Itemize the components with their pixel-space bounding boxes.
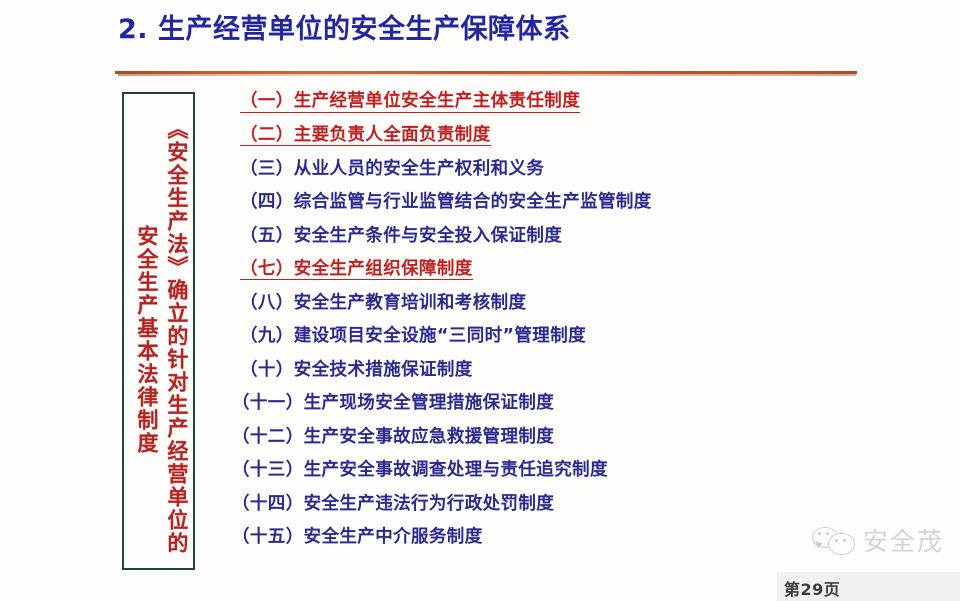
list-item-label: （二）主要负责人全面负责制度: [240, 127, 491, 147]
list-item-label: （一）生产经营单位安全生产主体责任制度: [240, 93, 580, 113]
list-item-label: （八）安全生产教育培训和考核制度: [240, 295, 526, 314]
title-divider-shadow: [118, 74, 856, 76]
list-item: （七）安全生产组织保障制度: [232, 254, 852, 288]
list-item-label: （十）安全技术措施保证制度: [240, 362, 473, 381]
page-number-label: 第29页: [784, 576, 840, 600]
list-item: （十）安全技术措施保证制度: [232, 354, 852, 388]
watermark-brand-label: 安全茂: [863, 522, 944, 558]
list-item: （四）综合监管与行业监管结合的安全生产监管制度: [232, 187, 852, 221]
list-item-label: （十二）生产安全事故应急救援管理制度: [232, 429, 554, 448]
vertical-label-column-right: 《安全生产法》确立的针对生产经营单位的: [166, 118, 187, 555]
list-item: （十一）生产现场安全管理措施保证制度: [232, 388, 852, 422]
list-item: （十四）安全生产违法行为行政处罚制度: [232, 488, 852, 522]
list-item-label: （十三）生产安全事故调查处理与责任追究制度: [232, 462, 608, 481]
vertical-label-box: 《安全生产法》确立的针对生产经营单位的 安全生产基本法律制度: [122, 92, 195, 570]
list-item-label: （七）安全生产组织保障制度: [240, 261, 473, 281]
list-item: （八）安全生产教育培训和考核制度: [232, 287, 852, 321]
list-item: （九）建设项目安全设施“三同时”管理制度: [232, 321, 852, 355]
list-item-label: （十四）安全生产违法行为行政处罚制度: [232, 496, 554, 515]
list-item-label: （三）从业人员的安全生产权利和义务: [240, 161, 544, 180]
vertical-label-column-left: 安全生产基本法律制度: [136, 225, 157, 455]
list-item: （五）安全生产条件与安全投入保证制度: [232, 220, 852, 254]
list-item: （十二）生产安全事故应急救援管理制度: [232, 421, 852, 455]
list-item: （二）主要负责人全面负责制度: [232, 120, 852, 154]
list-item: （三）从业人员的安全生产权利和义务: [232, 153, 852, 187]
list-item: （一）生产经营单位安全生产主体责任制度: [232, 86, 852, 120]
list-item-label: （十一）生产现场安全管理措施保证制度: [232, 395, 554, 414]
list-item-label: （四）综合监管与行业监管结合的安全生产监管制度: [240, 194, 652, 213]
list-item: （十五）安全生产中介服务制度: [232, 522, 852, 556]
institution-list: （一）生产经营单位安全生产主体责任制度（二）主要负责人全面负责制度（三）从业人员…: [232, 86, 852, 555]
list-item: （十三）生产安全事故调查处理与责任追究制度: [232, 455, 852, 489]
slide-canvas: 2. 生产经营单位的安全生产保障体系 《安全生产法》确立的针对生产经营单位的 安…: [0, 0, 960, 601]
list-item-label: （十五）安全生产中介服务制度: [232, 529, 483, 548]
list-item-label: （九）建设项目安全设施“三同时”管理制度: [240, 328, 586, 347]
page-title: 2. 生产经营单位的安全生产保障体系: [118, 12, 570, 47]
list-item-label: （五）安全生产条件与安全投入保证制度: [240, 228, 562, 247]
